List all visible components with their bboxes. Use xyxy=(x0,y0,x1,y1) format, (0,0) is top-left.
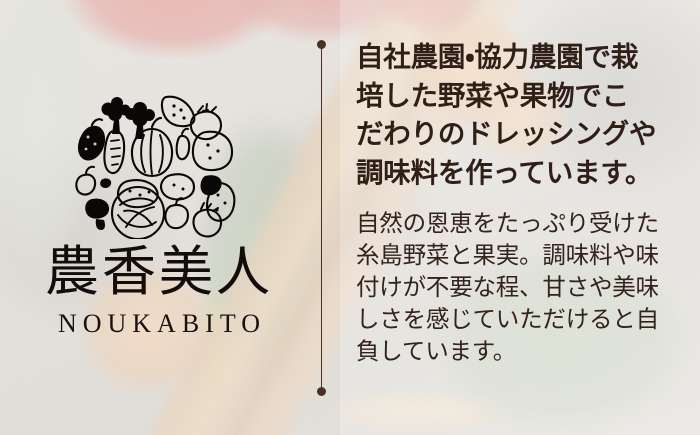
promo-banner: 農香美人 NOUKABITO 自社農園・協力農園で栽 培した野菜や果物でこ だわ… xyxy=(0,0,700,435)
headline-line: 自社農園・協力農園で栽 xyxy=(356,38,678,77)
headline-line: 培した野菜や果物でこ xyxy=(356,77,678,116)
headline: 自社農園・協力農園で栽 培した野菜や果物でこ だわりのドレッシングや 調味料を作… xyxy=(356,38,678,192)
headline-line: だわりのドレッシングや xyxy=(356,115,678,154)
brand-name-romaji: NOUKABITO xyxy=(45,309,273,339)
vegetable-circle-illustration-icon xyxy=(70,79,248,239)
body-copy-line: 負しています。 xyxy=(356,336,678,368)
headline-line: 調味料を作っています。 xyxy=(356,154,678,193)
brand-wordmark: 農香美人 NOUKABITO xyxy=(45,245,273,339)
body-copy: 自然の恩恵をたっぷり受けた 糸島野菜と果実。調味料や味 付けが不要な程、甘さや美… xyxy=(356,208,678,368)
brand-panel: 農香美人 NOUKABITO xyxy=(0,0,318,435)
banner-content: 農香美人 NOUKABITO 自社農園・協力農園で栽 培した野菜や果物でこ だわ… xyxy=(0,0,700,435)
body-copy-line: しさを感じていただけると自 xyxy=(356,304,678,336)
message-panel: 自社農園・協力農園で栽 培した野菜や果物でこ だわりのドレッシングや 調味料を作… xyxy=(318,0,700,435)
body-copy-line: 付けが不要な程、甘さや美味 xyxy=(356,272,678,304)
brand-name-kanji: 農香美人 xyxy=(45,245,273,299)
body-copy-line: 糸島野菜と果実。調味料や味 xyxy=(356,240,678,272)
body-copy-line: 自然の恩恵をたっぷり受けた xyxy=(356,208,678,240)
